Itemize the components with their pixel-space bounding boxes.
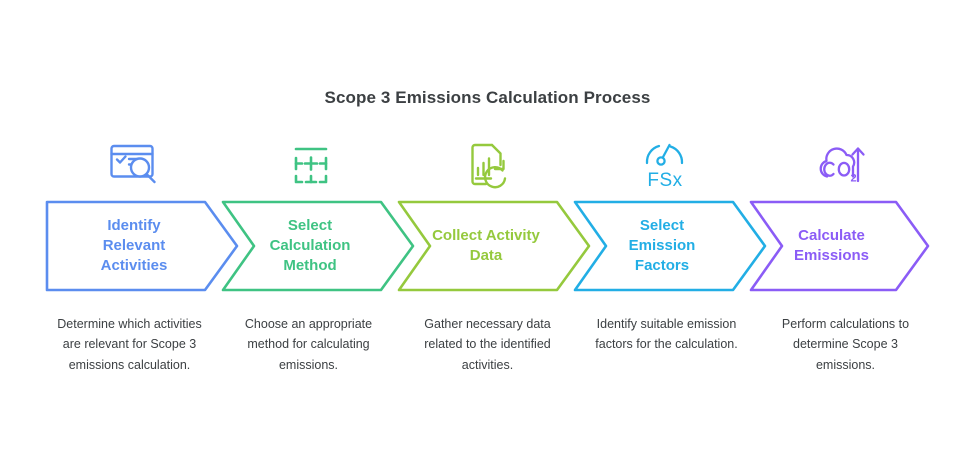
cloud-co2-uparrow-icon: 2 [753, 138, 930, 194]
chevron-label-3: Collect Activity Data [415, 200, 557, 292]
caption-step-3: Gather necessary data related to the ide… [398, 314, 577, 375]
chevron-step-3[interactable]: Collect Activity Data [397, 200, 591, 292]
process-chevron-row: Identify Relevant Activities Select Calc… [45, 200, 930, 292]
chevron-step-4[interactable]: Select Emission Factors [573, 200, 767, 292]
chevron-step-5[interactable]: Calculate Emissions [749, 200, 930, 292]
browser-checklist-search-icon [45, 138, 222, 194]
chevron-step-1[interactable]: Identify Relevant Activities [45, 200, 239, 292]
caption-step-4: Identify suitable emission factors for t… [577, 314, 756, 375]
chevron-label-5: Calculate Emissions [767, 200, 896, 292]
chevron-label-2: Select Calculation Method [239, 200, 381, 292]
chevron-label-4: Select Emission Factors [591, 200, 733, 292]
svg-text:2: 2 [850, 173, 856, 185]
document-barchart-refresh-icon [399, 138, 576, 194]
calculator-grid-plus-icon [222, 138, 399, 194]
chevron-label-1: Identify Relevant Activities [63, 200, 205, 292]
diagram-canvas: Scope 3 Emissions Calculation Process [0, 0, 975, 451]
page-title: Scope 3 Emissions Calculation Process [0, 88, 975, 108]
caption-step-5: Perform calculations to determine Scope … [756, 314, 935, 375]
gauge-fsx-icon: FSx [576, 138, 753, 194]
caption-step-1: Determine which activities are relevant … [40, 314, 219, 375]
caption-row: Determine which activities are relevant … [40, 314, 935, 375]
svg-text:FSx: FSx [647, 170, 682, 191]
chevron-step-2[interactable]: Select Calculation Method [221, 200, 415, 292]
icon-row: FSx 2 [45, 138, 930, 194]
caption-step-2: Choose an appropriate method for calcula… [219, 314, 398, 375]
